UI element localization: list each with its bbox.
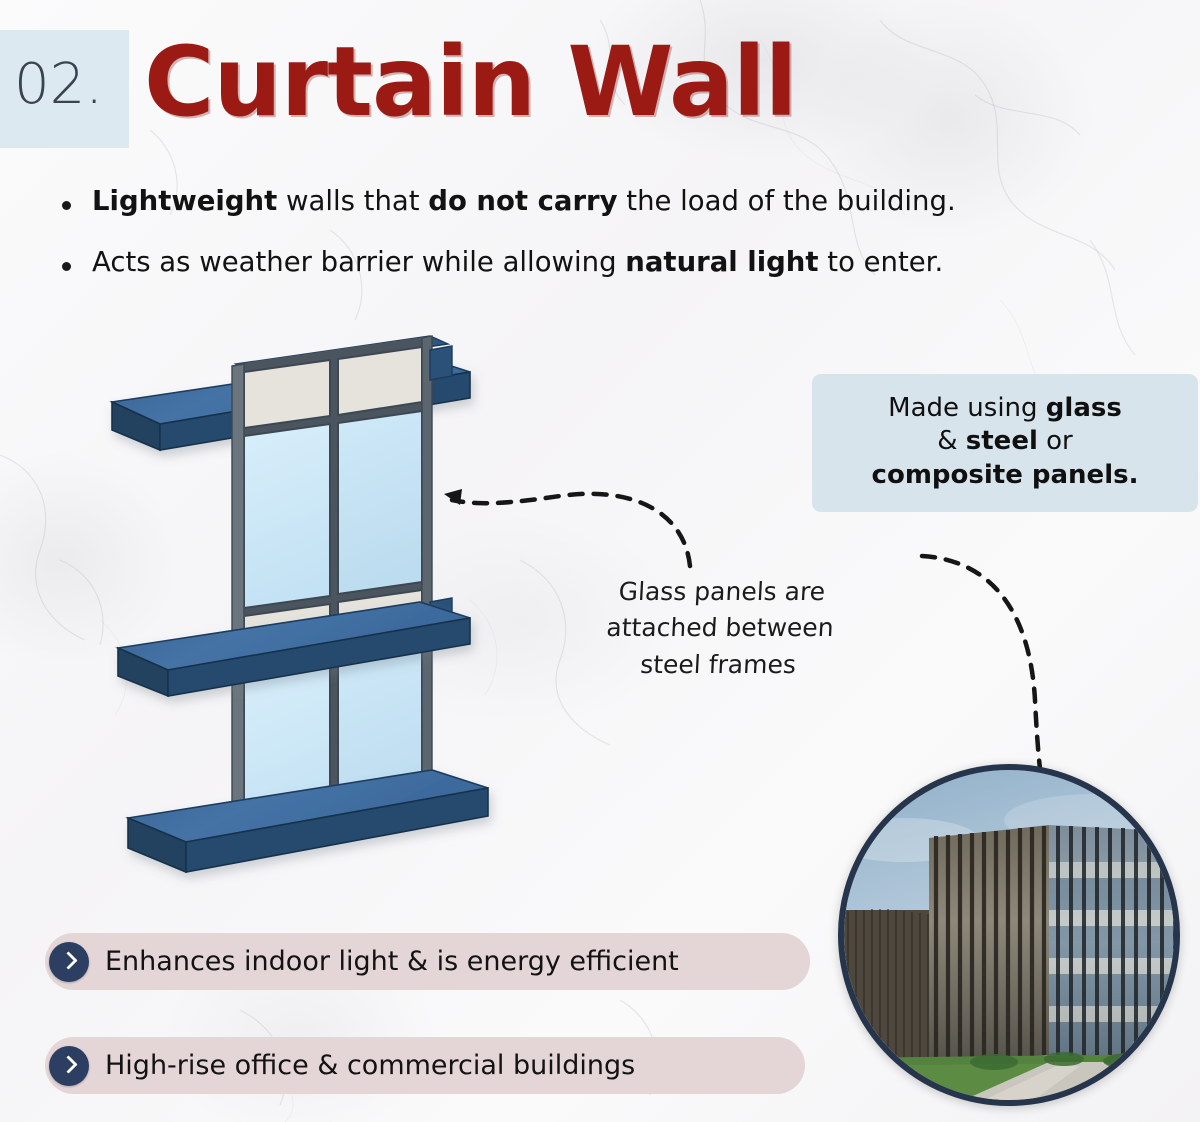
glass-panel-annotation: Glass panels are attached between steel … (562, 574, 878, 683)
bullet-dot-icon (62, 201, 71, 210)
callout-line: & steel or (826, 425, 1184, 458)
infographic-page: 02. Curtain Wall Lightweight walls that … (0, 0, 1200, 1122)
chevron-right-icon (49, 1046, 89, 1086)
annotation-line-2: attached between (564, 610, 876, 646)
bullet-list: Lightweight walls that do not carry the … (62, 185, 1162, 308)
callout-line: Made using glass (826, 392, 1184, 425)
bullet-item: Lightweight walls that do not carry the … (62, 185, 1162, 217)
bullet-dot-icon (62, 262, 71, 271)
bullet-text: Acts as weather barrier while allowing n… (92, 246, 943, 278)
benefit-pill[interactable]: Enhances indoor light & is energy effici… (45, 933, 810, 990)
bullet-text: Lightweight walls that do not carry the … (92, 185, 956, 217)
materials-callout: Made using glass & steel or composite pa… (812, 374, 1198, 512)
building-photo-circle (838, 764, 1180, 1106)
annotation-line-3: steel frames (562, 647, 874, 683)
annotation-line-1: Glass panels are (566, 574, 878, 610)
chevron-right-icon (49, 942, 89, 982)
usage-pill-label: High-rise office & commercial buildings (105, 1050, 635, 1081)
section-number: 02. (14, 52, 103, 117)
bullet-item: Acts as weather barrier while allowing n… (62, 246, 1162, 278)
benefit-pill-label: Enhances indoor light & is energy effici… (105, 946, 679, 977)
building-photo (844, 770, 1174, 1100)
page-title: Curtain Wall (144, 34, 797, 130)
callout-line: composite panels. (826, 459, 1184, 492)
usage-pill[interactable]: High-rise office & commercial buildings (45, 1037, 805, 1094)
